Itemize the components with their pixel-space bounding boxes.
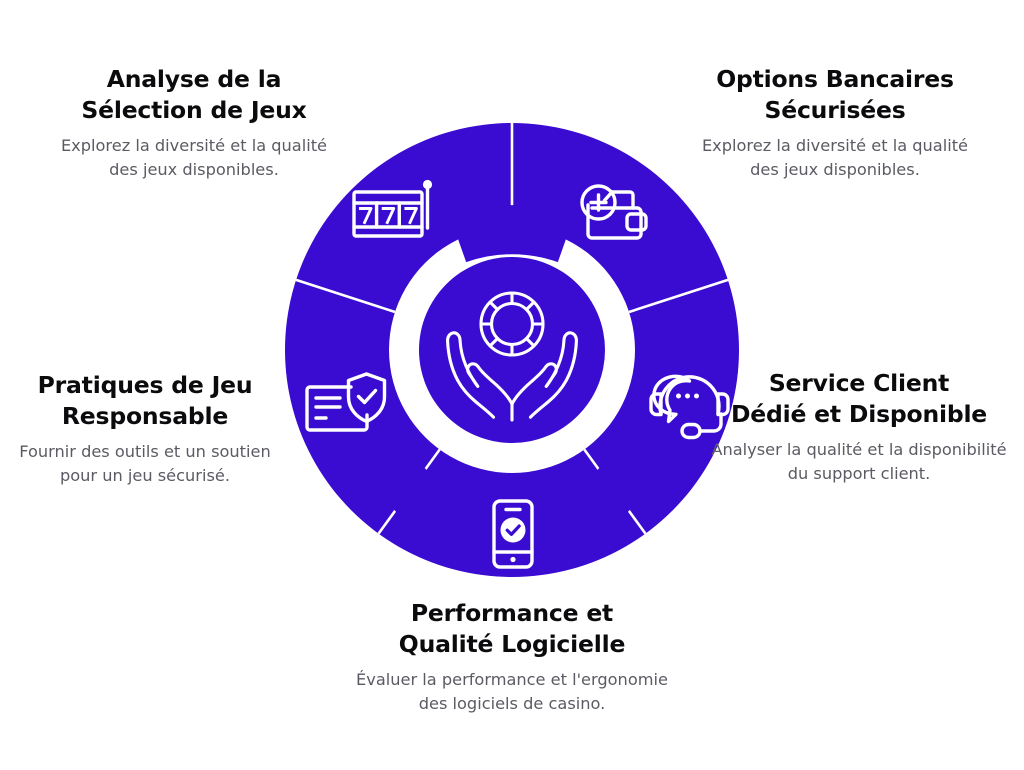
infographic-canvas: Analyse de la Sélection de Jeux Explorez… bbox=[0, 0, 1024, 770]
callout-description: Analyser la qualité et la disponibilité … bbox=[700, 438, 1018, 486]
callout-title: Service Client Dédié et Disponible bbox=[700, 368, 1018, 429]
callout-game-selection: Analyse de la Sélection de Jeux Explorez… bbox=[18, 64, 370, 182]
callout-description: Explorez la diversité et la qualité des … bbox=[18, 134, 370, 182]
callout-customer-service: Service Client Dédié et Disponible Analy… bbox=[700, 368, 1018, 486]
callout-title: Analyse de la Sélection de Jeux bbox=[18, 64, 370, 125]
callout-software-quality: Performance et Qualité Logicielle Évalue… bbox=[326, 598, 698, 716]
callout-description: Explorez la diversité et la qualité des … bbox=[660, 134, 1010, 182]
callout-responsible-gaming: Pratiques de Jeu Responsable Fournir des… bbox=[6, 370, 284, 488]
callout-title: Pratiques de Jeu Responsable bbox=[6, 370, 284, 431]
callout-description: Évaluer la performance et l'ergonomie de… bbox=[326, 668, 698, 716]
callout-description: Fournir des outils et un soutien pour un… bbox=[6, 440, 284, 488]
callout-title: Performance et Qualité Logicielle bbox=[326, 598, 698, 659]
callout-banking-options: Options Bancaires Sécurisées Explorez la… bbox=[660, 64, 1010, 182]
callout-title: Options Bancaires Sécurisées bbox=[660, 64, 1010, 125]
